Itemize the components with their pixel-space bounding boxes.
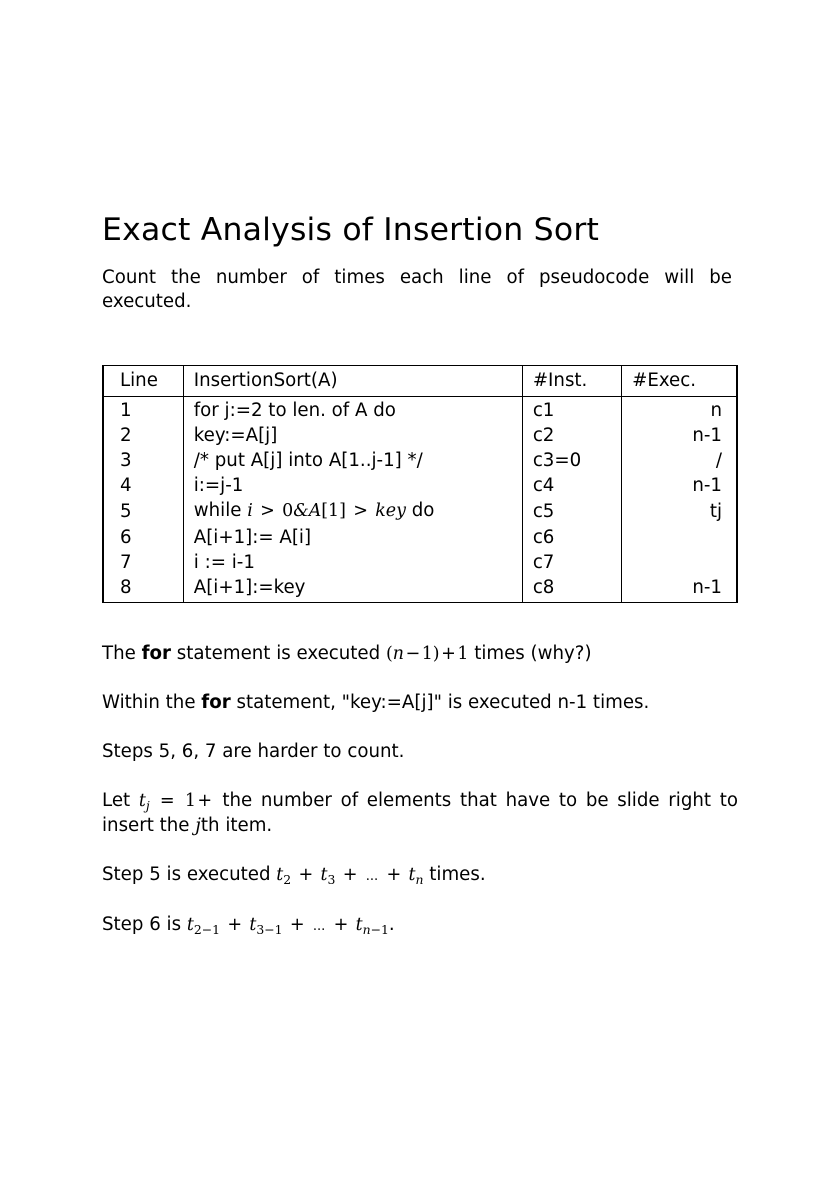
- page-title: Exact Analysis of Insertion Sort: [102, 213, 738, 248]
- cell-inst: c1: [522, 396, 621, 423]
- cell-exec: n: [622, 396, 737, 423]
- cell-exec: /: [622, 448, 737, 473]
- table-header: Line InsertionSort(A) #Inst. #Exec.: [103, 365, 737, 396]
- p5-suffix: times.: [424, 864, 486, 885]
- column-header-exec: #Exec.: [622, 365, 737, 396]
- cell-code-while: while i > 0&A[1] > key do: [183, 498, 522, 524]
- cell-line: 4: [103, 473, 183, 498]
- p2-prefix: Within the: [102, 692, 201, 713]
- cell-code: for j:=2 to len. of A do: [183, 396, 522, 423]
- table-row: 4 i:=j-1 c4 n-1: [103, 473, 737, 498]
- p6-prefix: Step 6 is: [102, 914, 187, 935]
- paragraph-for-statement: The for statement is executed (n−1)+1 ti…: [102, 642, 738, 666]
- cell-code: i := i-1: [183, 550, 522, 575]
- table-row: 3 /* put A[j] into A[1..j-1] */ c3=0 /: [103, 448, 737, 473]
- cell-code: A[i+1]:=key: [183, 575, 522, 603]
- paragraph-step5-count: Step 5 is executed t2 + t3 + ... + tn ti…: [102, 863, 738, 889]
- table-row: 1 for j:=2 to len. of A do c1 n: [103, 396, 737, 423]
- cell-inst: c7: [522, 550, 621, 575]
- cell-code: /* put A[j] into A[1..j-1] */: [183, 448, 522, 473]
- cell-exec: [622, 525, 737, 550]
- cell-line: 5: [103, 498, 183, 524]
- p5-formula: t2 + t3 + ... + tn: [276, 864, 423, 885]
- table-body: 1 for j:=2 to len. of A do c1 n 2 key:=A…: [103, 396, 737, 603]
- table-row: 7 i := i-1 c7: [103, 550, 737, 575]
- analysis-table-wrapper: Line InsertionSort(A) #Inst. #Exec. 1 fo…: [102, 365, 738, 604]
- table-row: 2 key:=A[j] c2 n-1: [103, 423, 737, 448]
- cell-inst: c4: [522, 473, 621, 498]
- paragraph-tj-definition: Let tj = 1+ the number of elements that …: [102, 789, 738, 839]
- slide-content: Exact Analysis of Insertion Sort Count t…: [102, 213, 738, 938]
- p2-suffix: statement, "key:=A[j]" is executed n-1 t…: [231, 692, 650, 713]
- paragraph-key-assignment: Within the for statement, "key:=A[j]" is…: [102, 691, 738, 715]
- p6-suffix: .: [389, 914, 395, 935]
- paragraph-steps-harder: Steps 5, 6, 7 are harder to count.: [102, 740, 738, 764]
- p1-prefix: The: [102, 643, 142, 664]
- column-header-line: Line: [103, 365, 183, 396]
- p6-formula: t2−1 + t3−1 + ... + tn−1: [187, 914, 389, 935]
- table-header-row: Line InsertionSort(A) #Inst. #Exec.: [103, 365, 737, 396]
- cell-code: A[i+1]:= A[i]: [183, 525, 522, 550]
- cell-exec: [622, 550, 737, 575]
- paragraph-step6-count: Step 6 is t2−1 + t3−1 + ... + tn−1.: [102, 913, 738, 939]
- cell-line: 7: [103, 550, 183, 575]
- p4-prefix: Let: [102, 790, 139, 811]
- cell-line: 1: [103, 396, 183, 423]
- column-header-inst: #Inst.: [522, 365, 621, 396]
- cell-line: 8: [103, 575, 183, 603]
- p4-suffix: th item.: [201, 815, 272, 836]
- p4-formula: tj = 1+: [139, 790, 214, 811]
- p2-bold-for: for: [201, 692, 230, 713]
- cell-exec: n-1: [622, 423, 737, 448]
- intro-paragraph: Count the number of times each line of p…: [102, 266, 732, 314]
- cell-line: 3: [103, 448, 183, 473]
- cell-inst: c5: [522, 498, 621, 524]
- cell-inst: c8: [522, 575, 621, 603]
- p1-mid: statement is executed: [171, 643, 386, 664]
- column-header-code: InsertionSort(A): [183, 365, 522, 396]
- p5-prefix: Step 5 is executed: [102, 864, 276, 885]
- insertion-sort-analysis-table: Line InsertionSort(A) #Inst. #Exec. 1 fo…: [102, 365, 738, 604]
- cell-exec: n-1: [622, 473, 737, 498]
- p1-formula: (n−1)+1: [386, 643, 468, 664]
- table-row: 6 A[i+1]:= A[i] c6: [103, 525, 737, 550]
- p1-suffix: times (why?): [468, 643, 591, 664]
- cell-line: 6: [103, 525, 183, 550]
- cell-inst: c2: [522, 423, 621, 448]
- cell-code: i:=j-1: [183, 473, 522, 498]
- cell-exec: n-1: [622, 575, 737, 603]
- explanation-list: The for statement is executed (n−1)+1 ti…: [102, 642, 738, 938]
- cell-code: key:=A[j]: [183, 423, 522, 448]
- slide-page: Exact Analysis of Insertion Sort Count t…: [0, 0, 840, 1191]
- cell-line: 2: [103, 423, 183, 448]
- cell-inst: c6: [522, 525, 621, 550]
- table-row: 5 while i > 0&A[1] > key do c5 tj: [103, 498, 737, 524]
- cell-exec: tj: [622, 498, 737, 524]
- p1-bold-for: for: [142, 643, 171, 664]
- cell-inst: c3=0: [522, 448, 621, 473]
- table-row: 8 A[i+1]:=key c8 n-1: [103, 575, 737, 603]
